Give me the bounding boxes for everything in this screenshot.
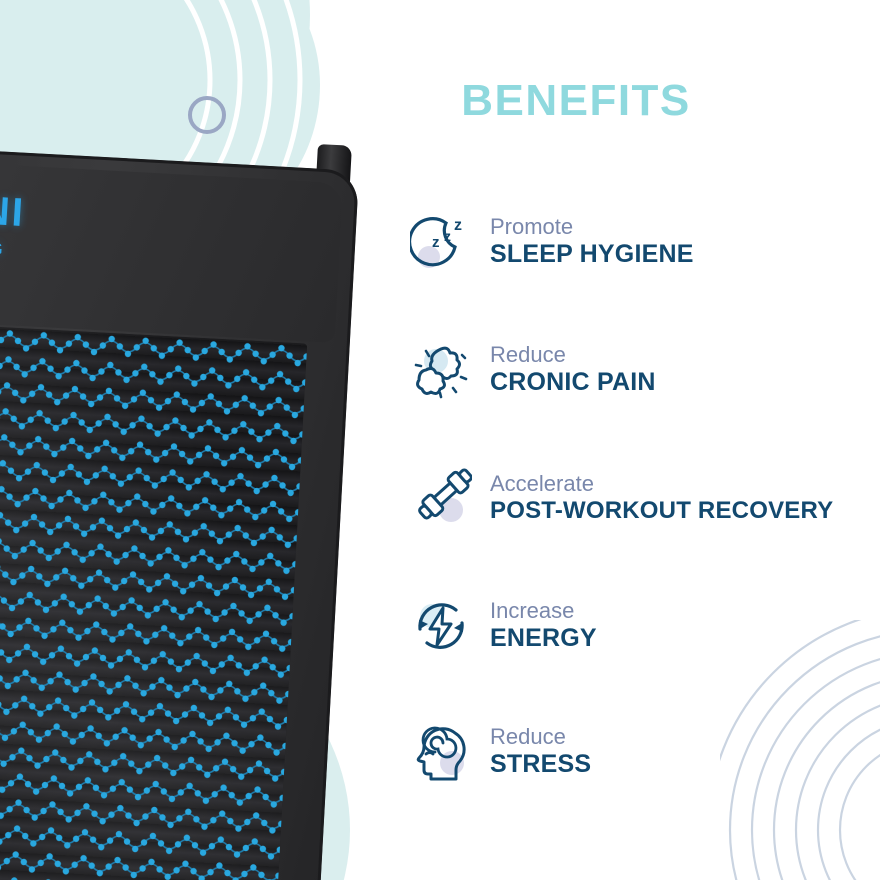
svg-text:z: z [444,228,451,244]
page-title: BENEFITS [336,76,816,126]
benefit-item-post-workout-recovery: Accelerate POST-WORKOUT RECOVERY [410,460,880,536]
benefit-action: Reduce [490,342,656,368]
head-spiral-icon [410,721,472,783]
benefit-label: POST-WORKOUT RECOVERY [490,497,833,525]
decorative-ring-outline [188,96,226,134]
svg-text:z: z [432,234,440,251]
conductive-dot-rows [0,316,307,880]
benefit-action: Accelerate [490,471,833,497]
benefit-label: CRONIC PAIN [490,368,656,398]
energy-bolt-icon [410,595,472,657]
pain-burst-icon [410,339,472,401]
benefit-item-cronic-pain: Reduce CRONIC PAIN [410,332,880,408]
brand-name: GROONI [0,183,26,233]
moon-sleep-icon: z z z [410,211,472,273]
benefit-item-sleep-hygiene: z z z Promote SLEEP HYGIENE [410,204,880,280]
benefit-item-energy: Increase ENERGY [410,588,880,664]
benefit-item-stress: Reduce STRESS [410,714,880,790]
benefit-label: ENERGY [490,624,597,654]
earthing-mat-product-image: GROONI EARTHING [0,140,390,880]
benefits-infographic: GROONI EARTHING BENEFITS z z z Promote S… [0,0,880,880]
mat-header-panel [0,154,343,343]
benefits-content: BENEFITS z z z Promote SLEEP HYGIENE [400,0,880,880]
benefit-label: SLEEP HYGIENE [490,240,694,270]
brand-tagline: EARTHING [0,233,23,259]
brand-logo: GROONI EARTHING [0,183,26,259]
benefit-action: Reduce [490,724,591,750]
mat-conductive-surface [0,316,307,880]
benefit-label: STRESS [490,750,591,780]
svg-text:z: z [454,217,462,234]
dumbbell-icon [410,467,472,529]
benefit-action: Increase [490,598,597,624]
benefit-action: Promote [490,214,694,240]
